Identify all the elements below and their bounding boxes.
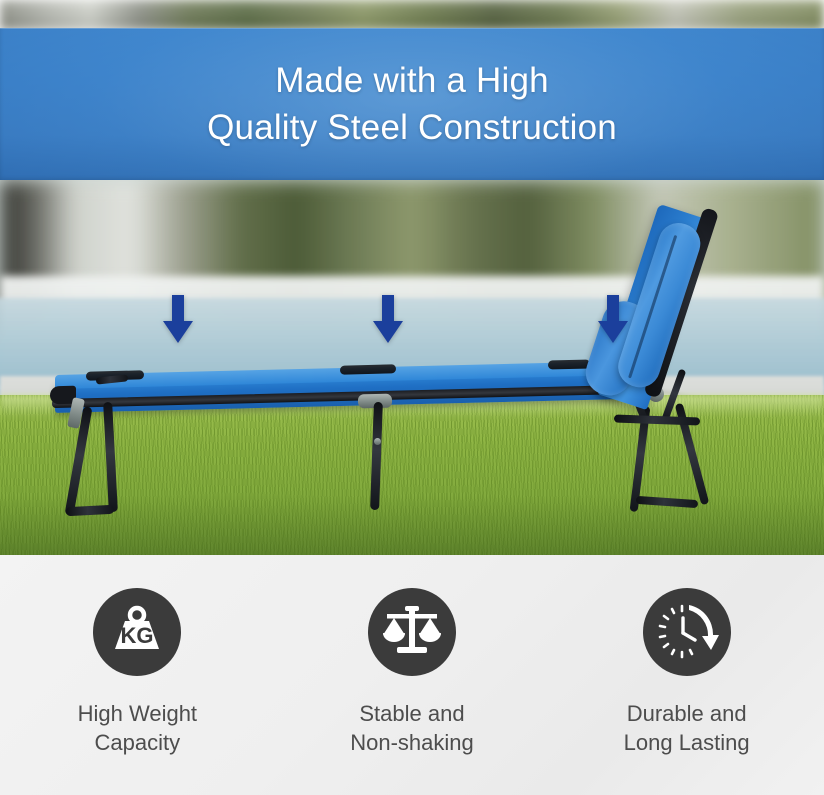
annotation-arrow-down-icon: [596, 295, 630, 343]
feature-label: High Weight Capacity: [78, 699, 197, 757]
clock-arrow-icon: [643, 588, 731, 676]
headline-line-1: Made with a High: [275, 58, 549, 104]
chair-fabric-pocket: [548, 359, 590, 369]
weight-kg-glyph: KG: [107, 602, 167, 662]
chair-front-foot-bar: [66, 505, 114, 516]
chair-rear-foot-bar: [636, 496, 698, 508]
feature-high-weight-capacity: KG High Weight Capacity: [10, 588, 265, 757]
product-infographic: Made with a High Quality Steel Construct…: [0, 0, 824, 795]
weight-kg-icon: KG: [93, 588, 181, 676]
annotation-arrow-down-icon: [371, 295, 405, 343]
svg-text:KG: KG: [121, 623, 154, 648]
balance-scale-glyph: [381, 604, 443, 660]
product-photo: [0, 180, 824, 555]
headline-line-2: Quality Steel Construction: [207, 105, 617, 151]
annotation-arrow-down-icon: [161, 295, 195, 343]
headline-banner: Made with a High Quality Steel Construct…: [0, 28, 824, 181]
feature-durable-long-lasting: Durable and Long Lasting: [559, 588, 814, 757]
chair-fabric-pocket: [340, 364, 396, 374]
chair-front-leg: [103, 402, 118, 512]
feature-strip: KG High Weight Capacity Stable and Non-s…: [0, 555, 824, 795]
feature-label: Durable and Long Lasting: [624, 699, 750, 757]
clock-arrow-glyph: [655, 600, 719, 664]
balance-scale-icon: [368, 588, 456, 676]
chair-recline-crossbar: [614, 415, 700, 426]
chair-middle-leg: [370, 402, 383, 510]
feature-label: Stable and Non-shaking: [350, 699, 474, 757]
top-background-strip: [0, 0, 824, 30]
sun-lounger-chair: [0, 180, 824, 555]
feature-stable-non-shaking: Stable and Non-shaking: [284, 588, 539, 757]
chair-middle-leg-rivet: [374, 438, 381, 445]
